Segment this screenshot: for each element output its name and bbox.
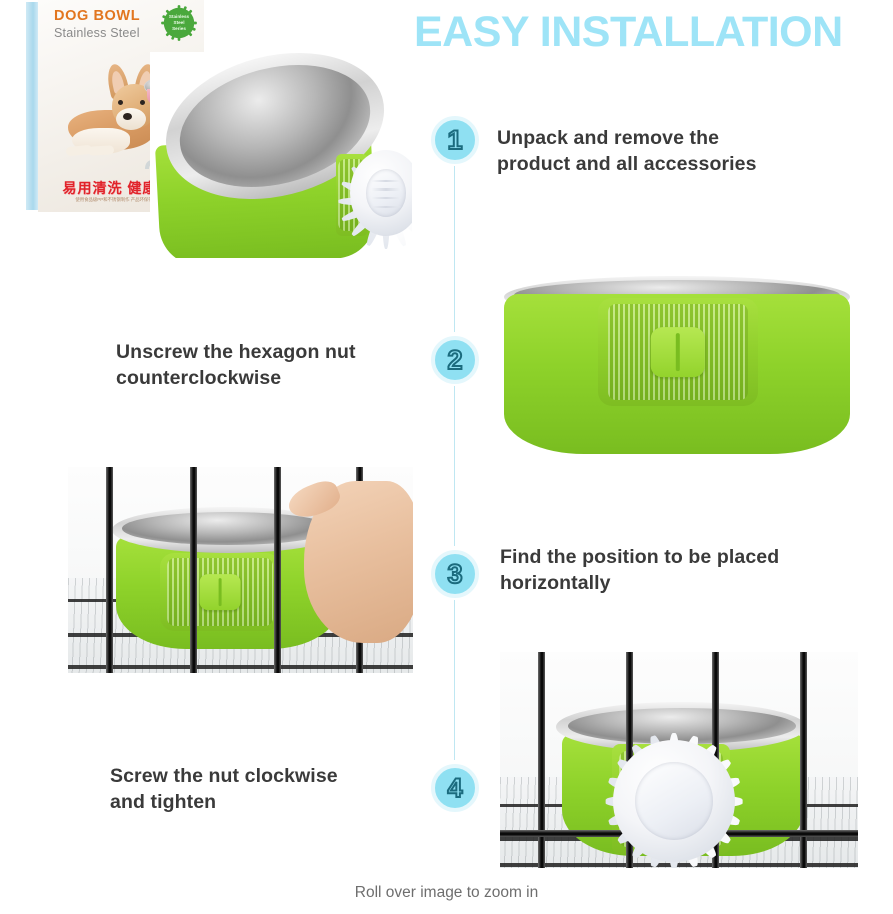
- clamp-hub-screw-seat-2: [651, 327, 705, 377]
- white-hexagon-nut-knob-4: [613, 740, 735, 862]
- bowl-steel-interior-4: [568, 708, 796, 744]
- stainless-steel-series-seal-icon: Stainless Steel Series: [160, 4, 198, 42]
- step-badge-2: 2: [431, 336, 479, 384]
- clamp-hub-screw-seat-3: [200, 574, 241, 610]
- step-text-2: Unscrew the hexagon nut counterclockwise: [116, 340, 426, 392]
- step-text-2-line-1: Unscrew the hexagon nut: [116, 340, 426, 366]
- photo-step-4-bowl-fastened-to-cage: [500, 652, 858, 868]
- step-connector-line-2-3: [454, 386, 455, 546]
- cage-wire-vertical-3b: [190, 467, 197, 673]
- bowl-clamp-bracket-3: [160, 553, 280, 631]
- photo-step-3-bowl-on-cage-with-hand: [68, 467, 413, 673]
- step-text-4-line-2: and tighten: [110, 790, 430, 816]
- cage-wire-vertical-3a: [106, 467, 113, 673]
- bowl-clamp-bracket-2: [598, 298, 758, 406]
- step-text-4-line-1: Screw the nut clockwise: [110, 764, 430, 790]
- cage-wire-vertical-3c: [274, 467, 281, 673]
- photo-step-2-bowl-clamp-bracket: [498, 272, 858, 460]
- step-badge-3: 3: [431, 550, 479, 598]
- step-text-1: Unpack and remove the product and all ac…: [497, 126, 827, 178]
- photo-step-1-bowl-with-knob: [150, 52, 412, 258]
- step-text-1-line-2: product and all accessories: [497, 152, 827, 178]
- step-badge-2-number: 2: [447, 345, 462, 376]
- step-badge-1-number: 1: [447, 125, 462, 156]
- step-text-2-line-2: counterclockwise: [116, 366, 426, 392]
- step-connector-line-3-4: [454, 600, 455, 760]
- step-text-4: Screw the nut clockwise and tighten: [110, 764, 430, 816]
- package-title: DOG BOWL: [54, 8, 140, 24]
- step-badge-3-number: 3: [447, 559, 462, 590]
- step-connector-line-1-2: [454, 166, 455, 332]
- seal-text-line-3: Series: [172, 26, 186, 32]
- step-badge-1: 1: [431, 116, 479, 164]
- package-subtitle: Stainless Steel: [54, 26, 140, 40]
- step-text-3: Find the position to be placed horizonta…: [500, 545, 845, 597]
- zoom-hint-caption: Roll over image to zoom in: [0, 884, 893, 902]
- page-title: EASY INSTALLATION: [414, 8, 843, 57]
- product-infographic-page: EASY INSTALLATION DOG BOWL Stainless Ste…: [0, 0, 893, 914]
- step-text-1-line-1: Unpack and remove the: [497, 126, 827, 152]
- white-hexagon-nut-knob-1: [350, 150, 412, 236]
- step-text-3-line-2: horizontally: [500, 571, 845, 597]
- step-text-3-line-1: Find the position to be placed: [500, 545, 845, 571]
- step-badge-4: 4: [431, 764, 479, 812]
- step-badge-4-number: 4: [447, 773, 462, 804]
- hand-holding-bowl-3: [304, 481, 413, 643]
